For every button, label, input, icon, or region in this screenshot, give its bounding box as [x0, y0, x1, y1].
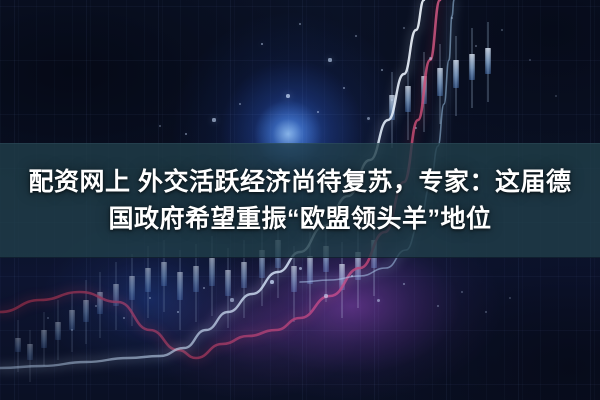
news-banner-image: 配资网上 外交活跃经济尚待复苏，专家：这届德 国政府希望重振“欧盟领头羊”地位 [0, 0, 600, 400]
headline-line-1: 配资网上 外交活跃经济尚待复苏，专家：这届德 [29, 165, 572, 200]
headline-line-2: 国政府希望重振“欧盟领头羊”地位 [108, 202, 491, 237]
headline-band: 配资网上 外交活跃经济尚待复苏，专家：这届德 国政府希望重振“欧盟领头羊”地位 [0, 143, 600, 258]
